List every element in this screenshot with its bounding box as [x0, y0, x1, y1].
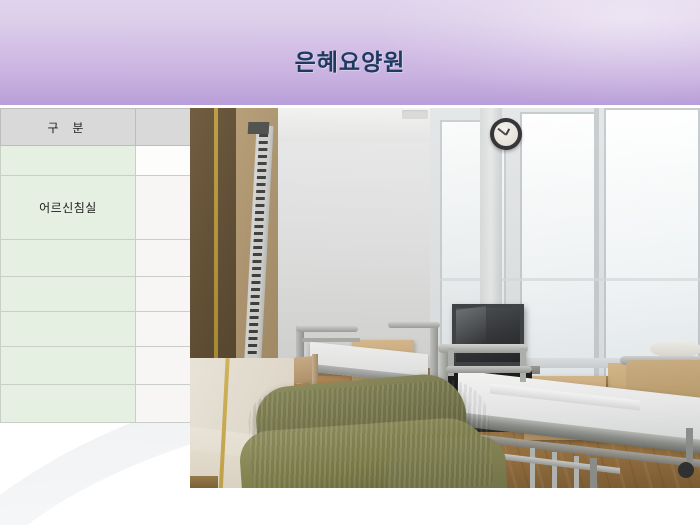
slide-canvas: 은혜요양원 구 분 어르신침실: [0, 0, 700, 525]
photo-bed-front-rail-post: [520, 348, 526, 382]
row-label: [1, 146, 136, 176]
row-value: [136, 146, 193, 176]
photo-wall-rail-bracket: [248, 122, 270, 134]
room-photo-content: [190, 108, 700, 488]
row-value: [136, 347, 193, 385]
row-value: [136, 277, 193, 312]
photo-bed-front-side-rail: [446, 366, 532, 373]
photo-bed-front-slat: [552, 452, 557, 488]
photo-ceiling-vent: [402, 110, 428, 119]
photo-window-transom: [440, 278, 700, 281]
table-row[interactable]: [1, 312, 193, 347]
column-header-blank: [136, 109, 193, 146]
row-value: [136, 385, 193, 423]
row-label: [1, 347, 136, 385]
photo-bed-back-footboard-bar: [388, 322, 440, 328]
row-label: [1, 277, 136, 312]
row-value: [136, 176, 193, 240]
table-header-row: 구 분: [1, 109, 193, 146]
row-label: [1, 385, 136, 423]
photo-bed-front-slat: [574, 456, 579, 488]
table-row[interactable]: [1, 277, 193, 312]
photo-sofa-texture: [247, 378, 494, 488]
table-row[interactable]: [1, 240, 193, 277]
photo-bed-front-leg: [590, 458, 597, 488]
page-title: 은혜요양원: [0, 0, 700, 105]
row-label: [1, 312, 136, 347]
row-label: [1, 240, 136, 277]
room-photo: [190, 108, 700, 488]
photo-bed-front-slat: [530, 448, 535, 488]
table-row[interactable]: [1, 385, 193, 423]
table-row[interactable]: [1, 347, 193, 385]
row-value: [136, 240, 193, 277]
photo-bed-back-headboard-bar: [296, 326, 358, 332]
photo-foreground-post: [190, 476, 218, 488]
photo-bed-front-caster: [678, 462, 694, 478]
table-row[interactable]: 어르신침실: [1, 176, 193, 240]
photo-bed-front-leg: [686, 428, 693, 466]
table-row[interactable]: [1, 146, 193, 176]
row-label-elder-bedroom: 어르신침실: [1, 176, 136, 240]
photo-left-trim-line: [214, 108, 218, 398]
row-value: [136, 312, 193, 347]
info-table: 구 분 어르신침실: [0, 108, 193, 423]
column-header-category: 구 분: [1, 109, 136, 146]
